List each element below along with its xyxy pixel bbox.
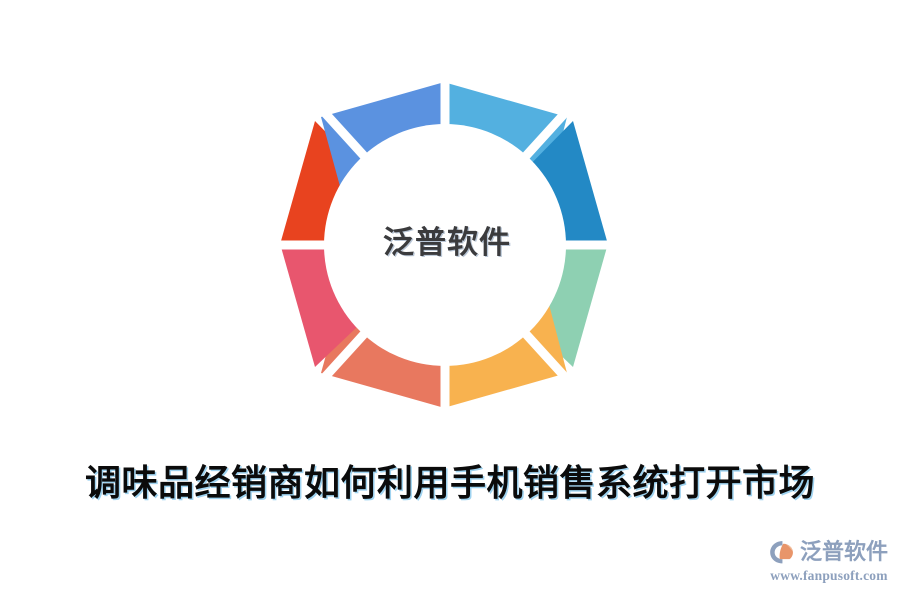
- brand-logo-url: www.fanpusoft.com: [768, 568, 890, 584]
- brand-logo: 泛普软件 www.fanpusoft.com: [768, 538, 890, 586]
- ring-diagram: 泛普软件: [235, 55, 655, 425]
- brand-logo-row: 泛普软件: [768, 538, 890, 566]
- ring-diagram-svg: [235, 55, 655, 425]
- page-title: 调味品经销商如何利用手机销售系统打开市场: [0, 454, 900, 506]
- brand-logo-wordmark: 泛普软件: [800, 541, 888, 563]
- ring-inner-hub: [324, 124, 566, 366]
- fanpu-logo-icon: [768, 538, 796, 566]
